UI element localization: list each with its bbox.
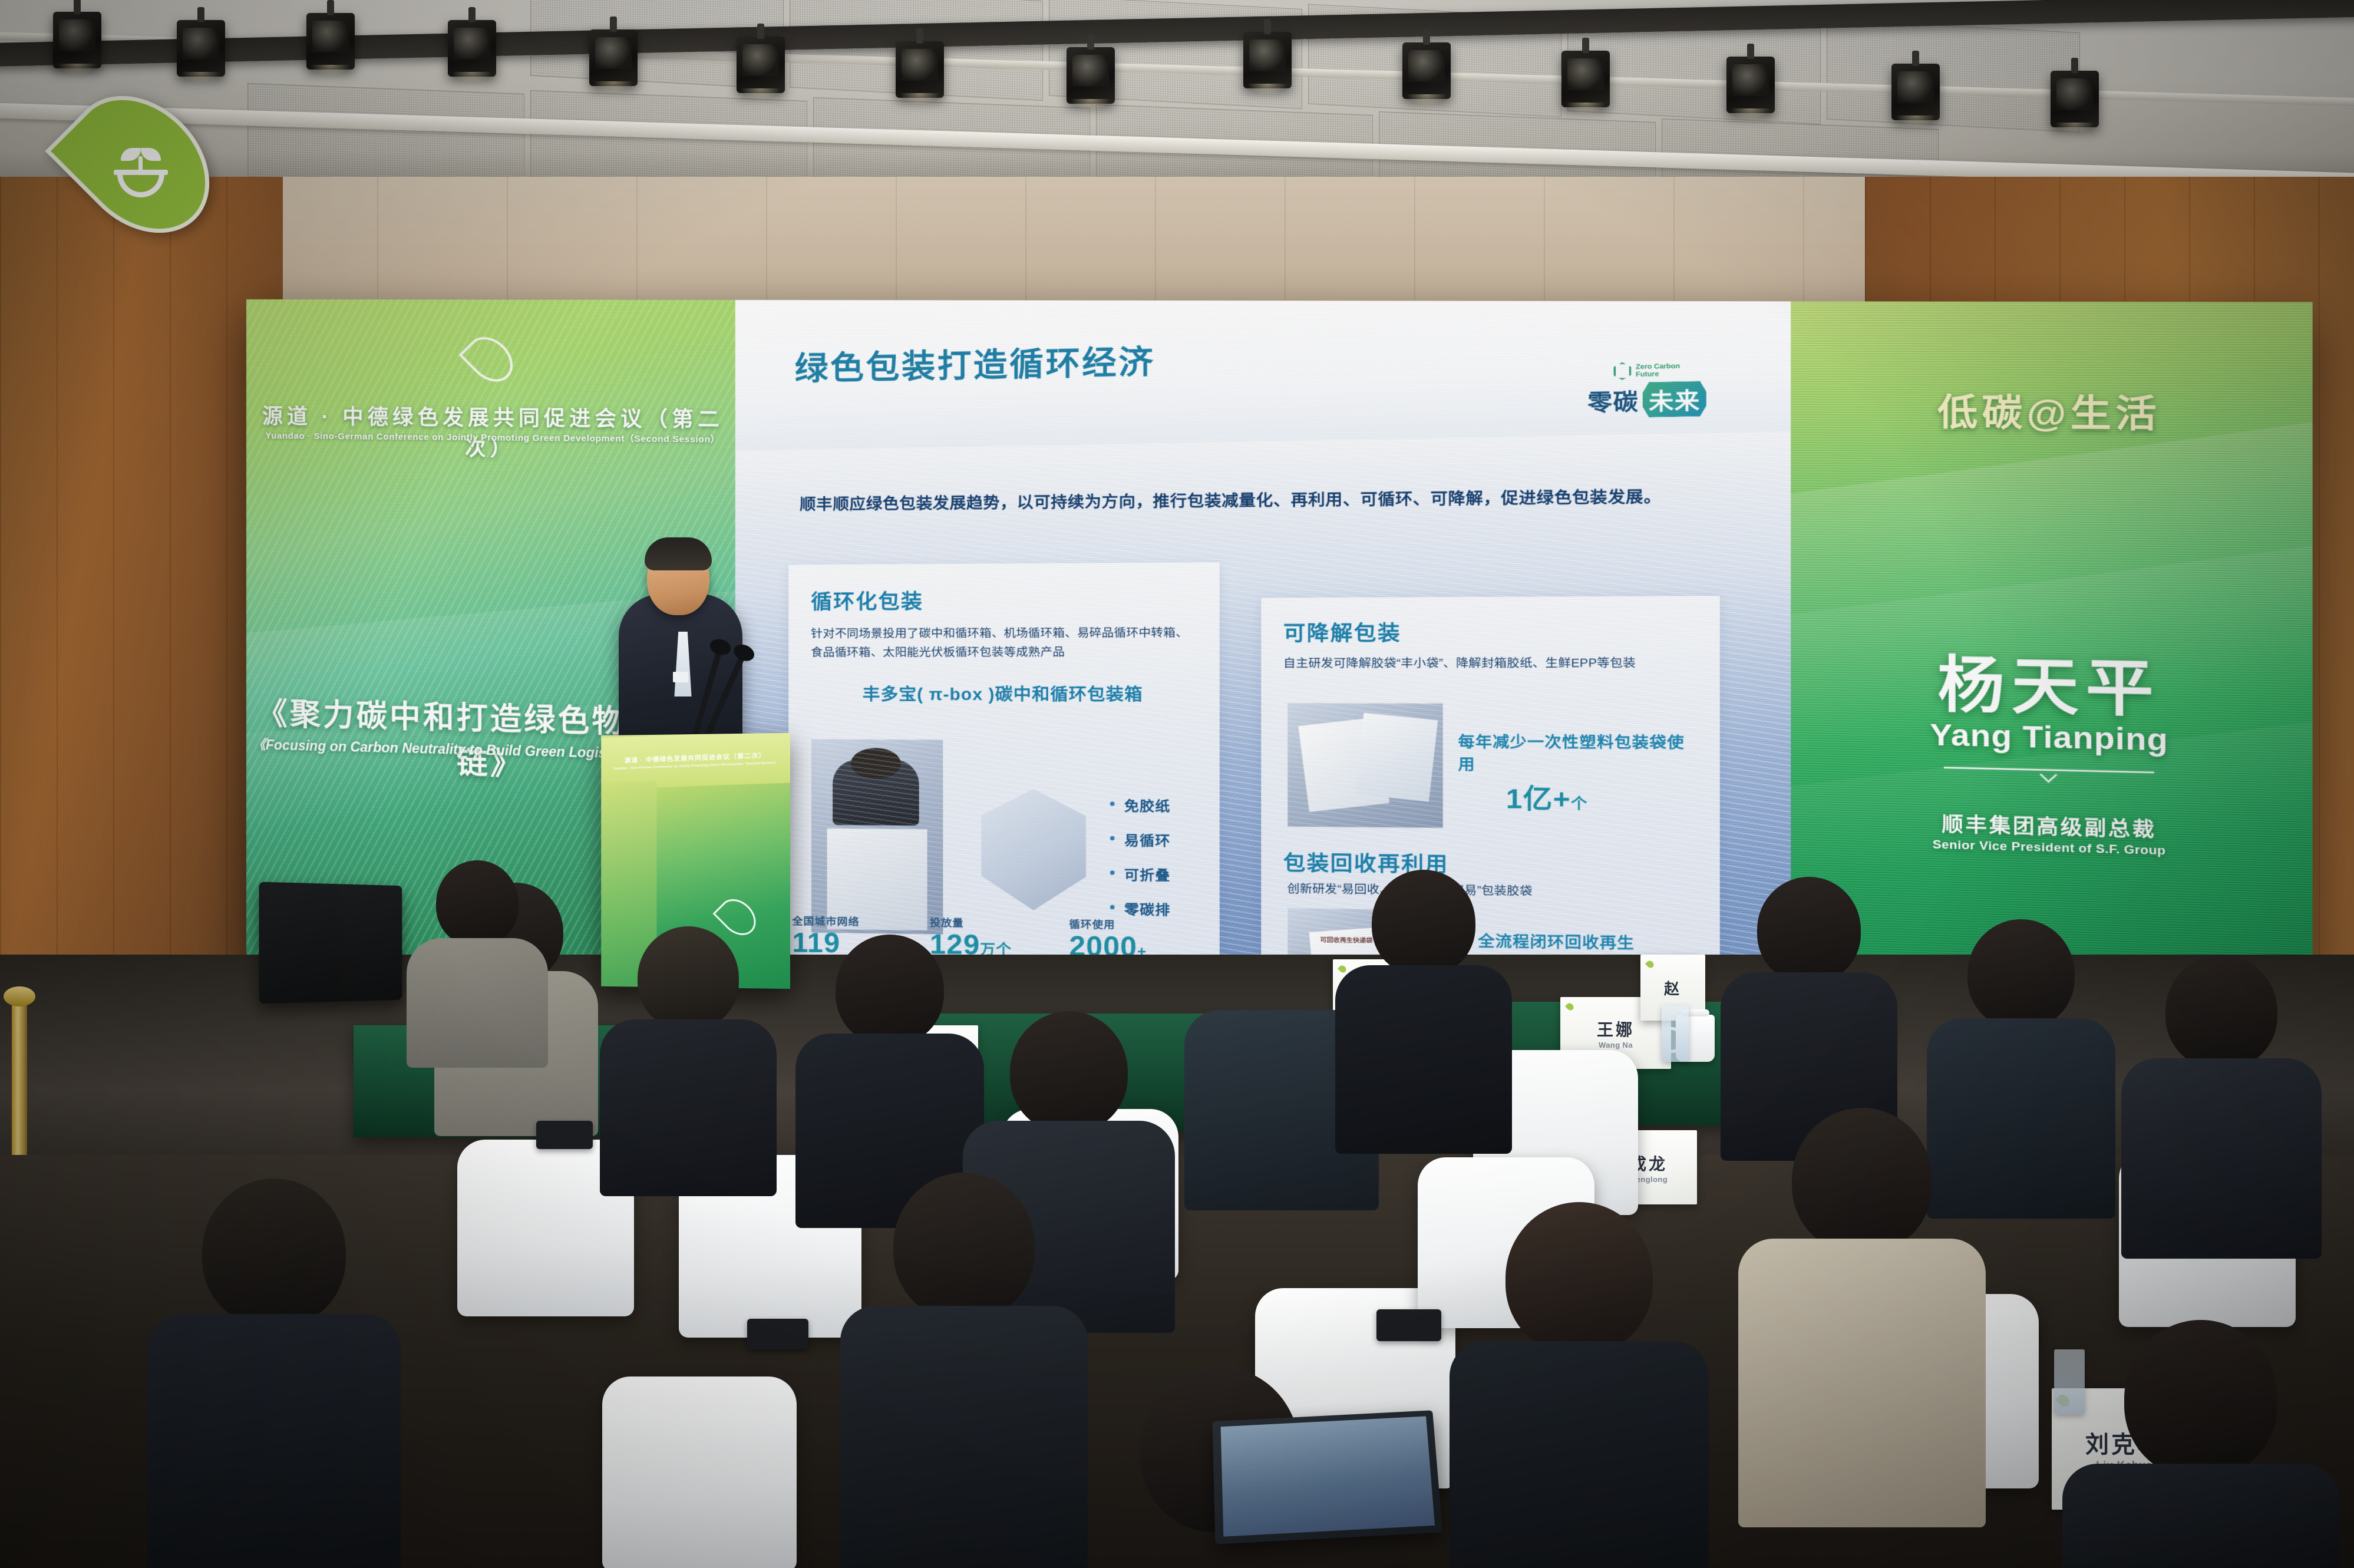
audience-member <box>1335 870 1512 1147</box>
pbox-feature-list: 免胶纸 易循环 可折叠 零碳排 <box>1110 794 1171 933</box>
audience-member <box>2062 1320 2339 1568</box>
stage-light <box>737 37 785 93</box>
zc-logo-en-line1: Zero Carbon <box>1636 362 1680 371</box>
green-droplet-sprout-logo <box>82 87 199 242</box>
highlight-number: 1亿+ <box>1506 784 1571 815</box>
name-card-en: Wang Na <box>1599 1041 1633 1049</box>
zc-logo-cn-light: 未来 <box>1643 381 1706 417</box>
card-body: 针对不同场景投用了碳中和循环箱、机场循环箱、易碎品循环中转箱、食品循环箱、太阳能… <box>811 623 1197 662</box>
card-heading: 可降解包装 <box>1283 615 1720 646</box>
droplet-icon <box>1645 959 1655 969</box>
stage-light <box>1561 51 1610 107</box>
degradable-bag-photo <box>1287 703 1443 828</box>
pbox-box-illustration <box>972 788 1097 911</box>
left-wood-wall <box>0 177 283 1002</box>
audience-chair <box>602 1376 797 1568</box>
stage-light <box>1891 64 1940 120</box>
card-subheading: 丰多宝( π-box )碳中和循环包装箱 <box>801 681 1207 705</box>
smartphone <box>536 1121 593 1149</box>
stage-light <box>53 12 101 68</box>
stage-light <box>2051 71 2099 127</box>
stage-light <box>1402 42 1451 99</box>
list-item: 免胶纸 <box>1110 794 1171 816</box>
slogan-low-carbon-life: 低碳@生活 <box>1791 381 2313 438</box>
audience-member <box>600 926 777 1186</box>
stage-light <box>896 41 944 98</box>
droplet-icon <box>1565 1002 1575 1012</box>
audience-member <box>147 1179 401 1568</box>
smartphone <box>747 1319 808 1349</box>
hexagon-leaf-icon <box>1613 362 1631 380</box>
smartphone <box>1376 1309 1441 1341</box>
pbox-worker-photo <box>811 740 943 935</box>
stage-light <box>448 20 496 77</box>
stage-light <box>1067 47 1115 104</box>
audience-member <box>2121 955 2322 1249</box>
stage-light <box>1726 57 1775 113</box>
name-card-cn: 赵 <box>1664 977 1682 999</box>
sprout-in-bowl-icon <box>113 143 169 197</box>
zc-logo-cn-dark: 零碳 <box>1587 383 1639 418</box>
podium-sign: 源道 · 中德绿色发展共同促进会议（第二次） Yuandao · Sino-Ge… <box>601 733 790 790</box>
card-heading: 循环化包装 <box>811 583 1220 615</box>
list-item: 易循环 <box>1110 828 1171 850</box>
highlight-unit: 个 <box>1571 795 1587 813</box>
droplet-outline-icon <box>471 334 509 384</box>
zero-carbon-future-logo: Zero Carbon Future 零碳 未来 <box>1587 361 1706 418</box>
audience-member <box>840 1173 1088 1568</box>
audience-member <box>407 860 548 1049</box>
highlight-label: 每年减少一次性塑料包装袋使用 <box>1458 729 1700 775</box>
slide-card-circular-packaging: 循环化包装 针对不同场景投用了碳中和循环箱、机场循环箱、易碎品循环中转箱、食品循… <box>788 562 1220 970</box>
audience-member <box>1450 1202 1709 1568</box>
stage-light <box>589 29 638 86</box>
highlight-value: 1亿+个 <box>1506 776 1588 817</box>
zc-logo-en-line2: Future <box>1636 371 1659 379</box>
stage-light <box>177 20 225 77</box>
presenter-name-badge <box>673 672 688 682</box>
list-item: 可折叠 <box>1110 863 1171 885</box>
stage-light <box>1243 32 1292 88</box>
stage-monitor-speaker <box>259 882 402 1004</box>
water-glass <box>1662 1005 1689 1062</box>
stage-light <box>306 13 355 70</box>
card-body: 自主研发可降解胶袋“丰小袋”、降解封箱胶纸、生鲜EPP等包装 <box>1283 653 1701 674</box>
laptop <box>1213 1410 1443 1544</box>
conference-hall-photo: 🚪 源道 · 中德绿色发展共同促进会议（第二次） Yuandao · Sino-… <box>0 0 2354 1568</box>
slide-lead-text: 顺丰顺应绿色包装发展趋势，以可持续为方向，推行包装减量化、再利用、可循环、可降解… <box>800 483 1736 517</box>
name-card-cn: 王娜 <box>1597 1017 1635 1041</box>
presenter-hair <box>645 537 712 570</box>
slide-title: 绿色包装打造循环经济 <box>795 335 1155 390</box>
audience-member <box>1738 1108 1986 1520</box>
